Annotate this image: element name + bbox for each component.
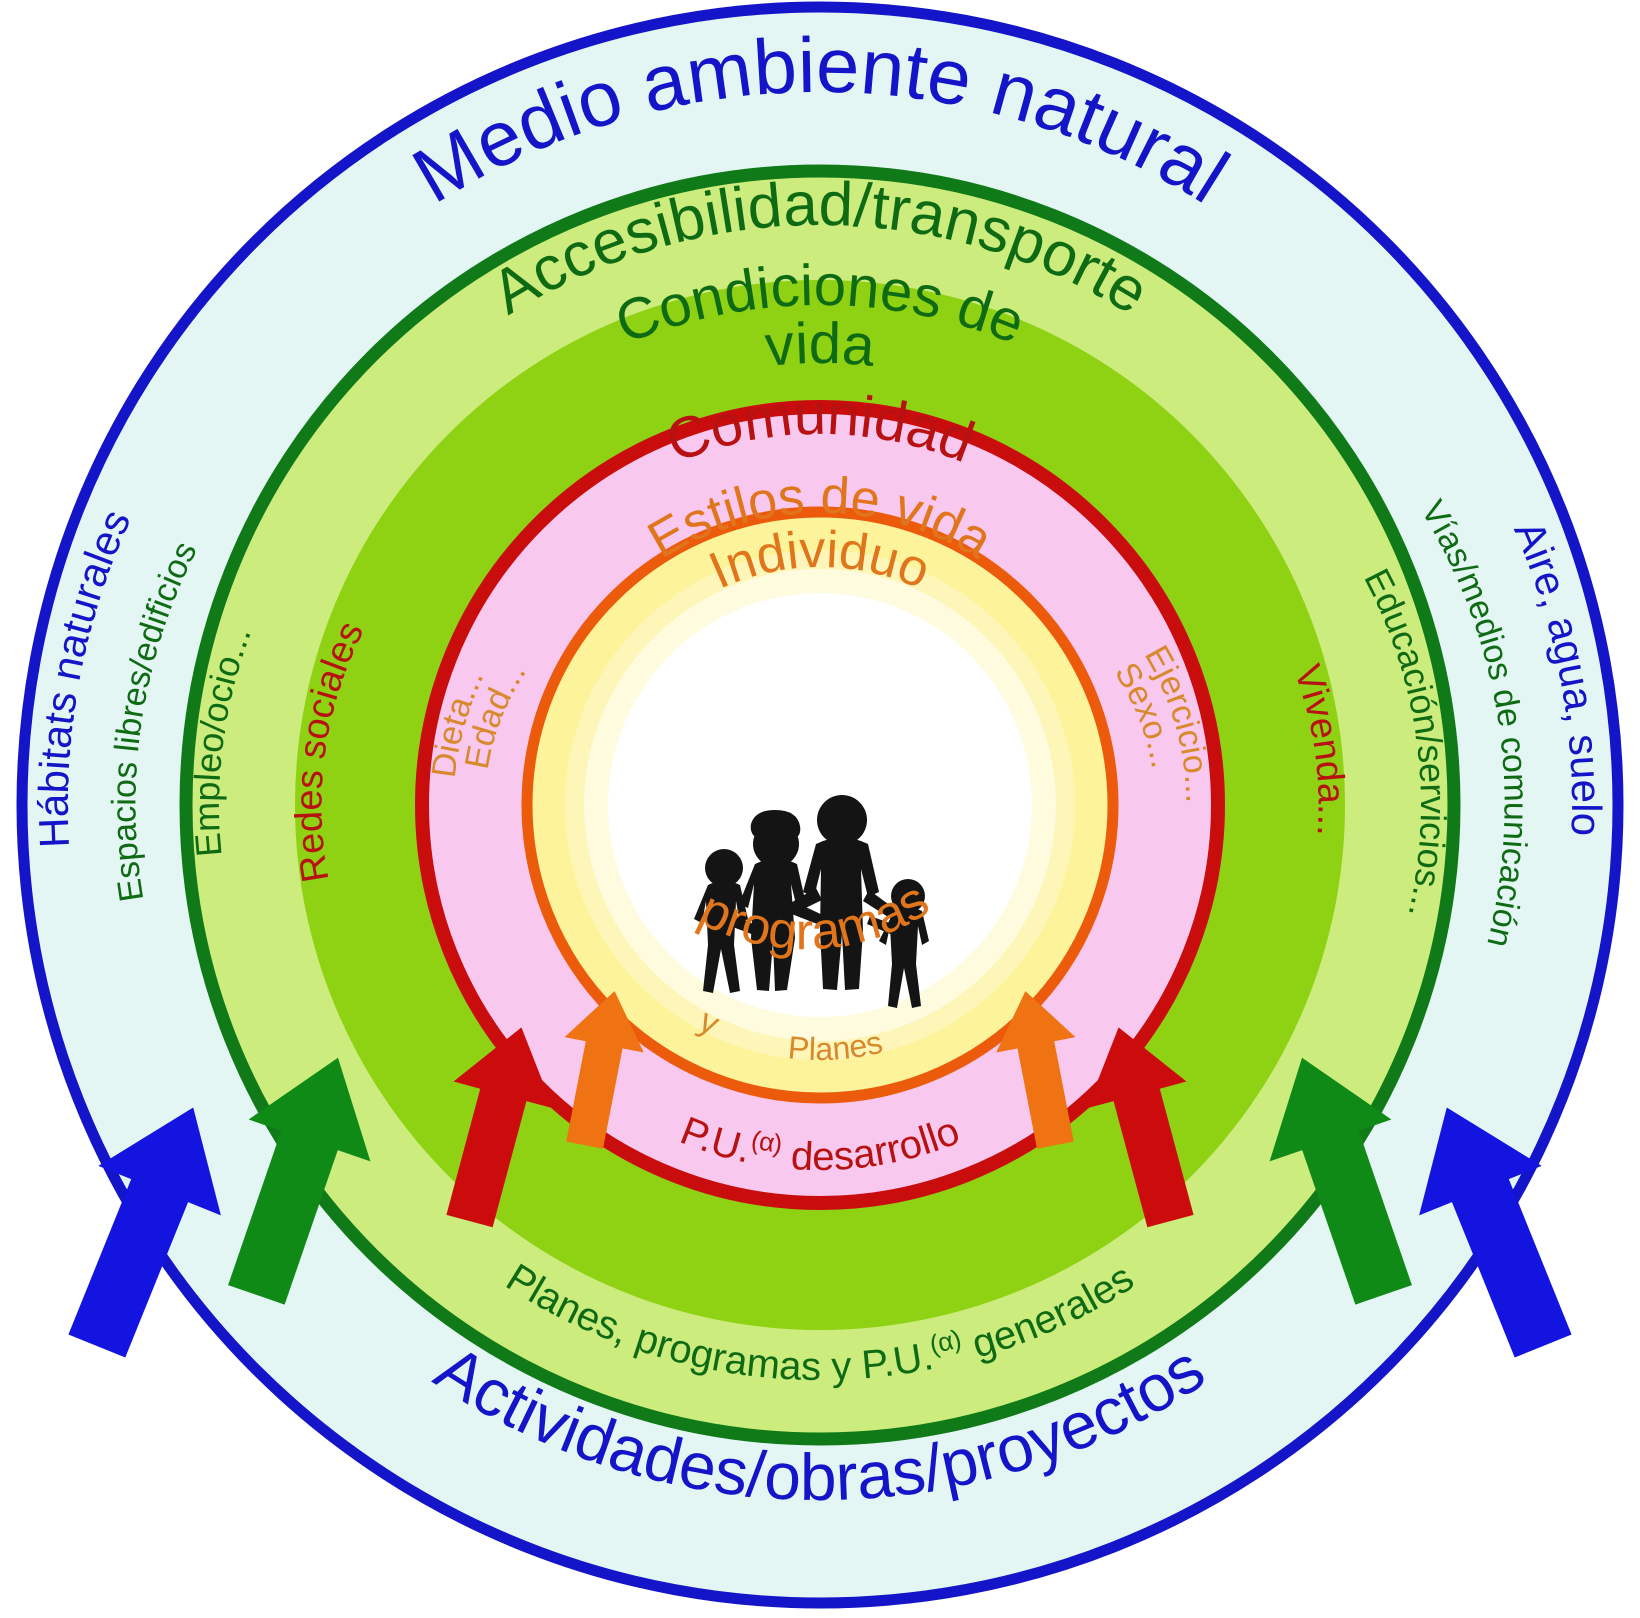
- concentric-rings-diagram: Medio ambiente natural Actividades/obras…: [0, 0, 1640, 1618]
- label-condiciones-de-vida-line2: vida: [762, 311, 878, 379]
- diagram-canvas: Medio ambiente natural Actividades/obras…: [0, 0, 1640, 1618]
